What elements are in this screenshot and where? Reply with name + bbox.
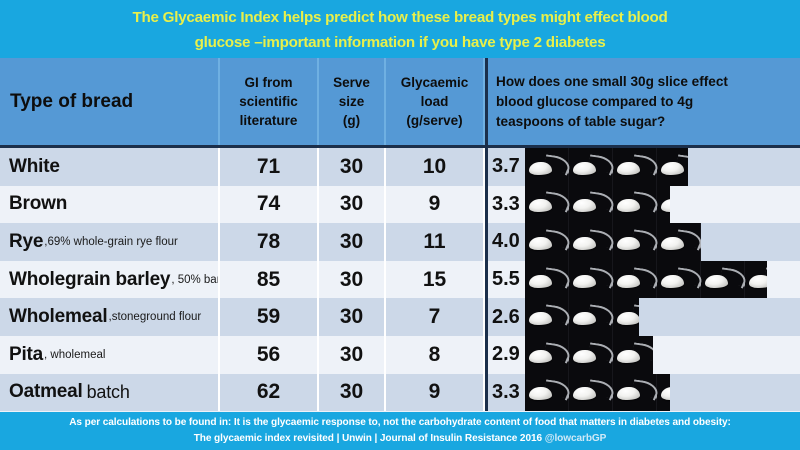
footer-citation: The glycaemic index revisited | Unwin | … (194, 433, 542, 444)
spoon-bowl-icon (661, 199, 670, 212)
sugar-spoon-icon (525, 148, 569, 186)
title-line-1: The Glycaemic Index helps predict how th… (132, 5, 667, 30)
cell-bread-name: Wholegrain barley, 50% barley (0, 261, 220, 299)
cell-gi-value: 59 (220, 298, 319, 336)
spoon-handle-icon (544, 154, 571, 173)
column-header-serve-size: Serve size (g) (319, 58, 386, 145)
sugar-spoon-icon (613, 336, 653, 374)
cell-serve-size-value: 30 (319, 336, 386, 374)
bread-name-qualifier: , 50% barley (171, 274, 220, 286)
cell-gi-value: 74 (220, 186, 319, 224)
sugar-spoon-icon (569, 374, 613, 412)
bread-name-main: Rye (9, 231, 43, 253)
cell-glycaemic-load-value: 9 (386, 186, 485, 224)
table-row: White7130103.7 (0, 148, 800, 186)
teaspoon-strip (525, 148, 688, 186)
teaspoon-strip (525, 374, 670, 412)
cell-gi-value: 56 (220, 336, 319, 374)
teaspoon-strip (525, 186, 670, 224)
teaspoons-question-line-2: blood glucose compared to 4g (496, 92, 693, 112)
gl-header-word-1: Glycaemic (401, 73, 469, 92)
column-header-gi: GI from scientific literature (220, 58, 319, 145)
cell-gi-value: 62 (220, 374, 319, 412)
bread-gi-table: Type of bread GI from scientific literat… (0, 58, 800, 412)
sugar-spoon-icon (525, 374, 569, 412)
spoon-handle-icon (632, 342, 653, 361)
cell-serve-size-value: 30 (319, 261, 386, 299)
cell-teaspoons-value: 3.7 (485, 148, 525, 186)
footer-line-2: The glycaemic index revisited | Unwin | … (194, 431, 607, 447)
table-row: Wholegrain barley, 50% barley8530155.5 (0, 261, 800, 299)
source-footer: As per calculations to be found in: It i… (0, 412, 800, 450)
table-row: Pita, wholemeal563082.9 (0, 336, 800, 374)
cell-serve-size-value: 30 (319, 298, 386, 336)
cell-bread-name: Oatmealbatch (0, 374, 220, 412)
table-row: Rye,69% whole-grain rye flour7830114.0 (0, 223, 800, 261)
sugar-spoon-icon (569, 148, 613, 186)
table-body: White7130103.7Brown743093.3Rye,69% whole… (0, 148, 800, 411)
sugar-spoon-icon (569, 186, 613, 224)
teaspoon-strip (525, 336, 653, 374)
sugar-spoon-icon (613, 298, 639, 336)
sugar-spoon-icon (525, 336, 569, 374)
cell-teaspoons-value: 2.6 (485, 298, 525, 336)
sugar-spoon-icon (701, 261, 745, 299)
bread-name-main: Wholegrain barley (9, 269, 170, 291)
footer-line-1: As per calculations to be found in: It i… (69, 415, 731, 431)
sugar-spoon-icon (657, 148, 688, 186)
sugar-spoon-icon (657, 223, 701, 261)
sugar-spoon-icon (657, 261, 701, 299)
spoon-handle-icon (764, 267, 767, 286)
bread-name-secondary: batch (87, 382, 130, 403)
serve-header-word-2: size (339, 92, 365, 111)
teaspoon-strip (525, 298, 639, 336)
spoon-handle-icon (544, 267, 571, 286)
cell-glycaemic-load-value: 15 (386, 261, 485, 299)
teaspoon-pictogram (525, 261, 800, 299)
sugar-spoon-icon (745, 261, 767, 299)
gl-header-word-3: (g/serve) (406, 111, 462, 130)
table-header-row: Type of bread GI from scientific literat… (0, 58, 800, 148)
table-row: Oatmealbatch623093.3 (0, 374, 800, 412)
title-line-2: glucose –important information if you ha… (195, 30, 606, 55)
bread-name-qualifier: ,69% whole-grain rye flour (44, 236, 178, 248)
cell-serve-size-value: 30 (319, 223, 386, 261)
cell-serve-size-value: 30 (319, 148, 386, 186)
teaspoon-pictogram (525, 336, 800, 374)
sugar-spoon-icon (657, 186, 670, 224)
sugar-spoon-icon (657, 374, 670, 412)
spoon-handle-icon (720, 267, 747, 286)
twitter-handle[interactable]: @lowcarbGP (545, 433, 607, 444)
gi-header-word-1: GI from (244, 73, 292, 92)
column-header-type-of-bread: Type of bread (0, 58, 220, 145)
cell-teaspoons-value: 4.0 (485, 223, 525, 261)
cell-bread-name: Wholemeal,stoneground flour (0, 298, 220, 336)
bread-name-qualifier: ,stoneground flour (109, 311, 202, 323)
sugar-spoon-icon (525, 261, 569, 299)
cell-glycaemic-load-value: 7 (386, 298, 485, 336)
cell-glycaemic-load-value: 9 (386, 374, 485, 412)
sugar-spoon-icon (613, 223, 657, 261)
cell-bread-name: Pita, wholemeal (0, 336, 220, 374)
sugar-spoon-icon (569, 336, 613, 374)
sugar-spoon-icon (569, 298, 613, 336)
bread-name-main: Oatmeal (9, 381, 83, 403)
cell-glycaemic-load-value: 11 (386, 223, 485, 261)
sugar-spoon-icon (569, 261, 613, 299)
column-header-glycaemic-load: Glycaemic load (g/serve) (386, 58, 485, 145)
serve-header-word-3: (g) (343, 111, 360, 130)
teaspoon-pictogram (525, 223, 800, 261)
spoon-handle-icon (588, 154, 615, 173)
teaspoon-strip (525, 261, 767, 299)
cell-bread-name: Brown (0, 186, 220, 224)
spoon-handle-icon (632, 267, 659, 286)
spoon-handle-icon (588, 229, 615, 248)
teaspoon-pictogram (525, 186, 800, 224)
gi-header-word-2: scientific (239, 92, 298, 111)
bread-name-qualifier: , wholemeal (44, 349, 105, 361)
gi-header-word-3: literature (240, 111, 298, 130)
spoon-handle-icon (632, 229, 659, 248)
cell-bread-name: White (0, 148, 220, 186)
teaspoon-pictogram (525, 298, 800, 336)
cell-bread-name: Rye,69% whole-grain rye flour (0, 223, 220, 261)
spoon-handle-icon (544, 342, 571, 361)
column-header-teaspoons-question: How does one small 30g slice effect bloo… (485, 58, 800, 145)
teaspoons-question-line-3: teaspoons of table sugar? (496, 112, 665, 132)
sugar-spoon-icon (525, 223, 569, 261)
teaspoons-question-line-1: How does one small 30g slice effect (496, 72, 728, 92)
sugar-spoon-icon (569, 223, 613, 261)
cell-gi-value: 78 (220, 223, 319, 261)
sugar-spoon-icon (525, 298, 569, 336)
table-row: Wholemeal,stoneground flour593072.6 (0, 298, 800, 336)
bread-name-main: Brown (9, 193, 67, 215)
sugar-spoon-icon (613, 261, 657, 299)
sugar-spoon-icon (613, 148, 657, 186)
teaspoon-pictogram (525, 374, 800, 412)
cell-serve-size-value: 30 (319, 186, 386, 224)
cell-teaspoons-value: 5.5 (485, 261, 525, 299)
serve-header-word-1: Serve (333, 73, 370, 92)
bread-name-main: Pita (9, 344, 43, 366)
title-banner: The Glycaemic Index helps predict how th… (0, 0, 800, 58)
bread-name-main: Wholemeal (9, 306, 108, 328)
infographic-poster: The Glycaemic Index helps predict how th… (0, 0, 800, 450)
table-row: Brown743093.3 (0, 186, 800, 224)
cell-gi-value: 71 (220, 148, 319, 186)
spoon-bowl-icon (661, 387, 670, 400)
cell-teaspoons-value: 3.3 (485, 186, 525, 224)
spoon-handle-icon (676, 154, 688, 173)
cell-glycaemic-load-value: 8 (386, 336, 485, 374)
sugar-spoon-icon (525, 186, 569, 224)
bread-name-main: White (9, 156, 60, 178)
spoon-handle-icon (676, 267, 703, 286)
teaspoon-strip (525, 223, 701, 261)
cell-teaspoons-value: 3.3 (485, 374, 525, 412)
spoon-handle-icon (676, 229, 701, 248)
spoon-handle-icon (588, 342, 615, 361)
gl-header-word-2: load (421, 92, 449, 111)
cell-gi-value: 85 (220, 261, 319, 299)
cell-serve-size-value: 30 (319, 374, 386, 412)
sugar-spoon-icon (613, 186, 657, 224)
sugar-spoon-icon (613, 374, 657, 412)
cell-glycaemic-load-value: 10 (386, 148, 485, 186)
spoon-handle-icon (588, 267, 615, 286)
spoon-handle-icon (544, 229, 571, 248)
teaspoon-pictogram (525, 148, 800, 186)
cell-teaspoons-value: 2.9 (485, 336, 525, 374)
spoon-handle-icon (632, 154, 659, 173)
